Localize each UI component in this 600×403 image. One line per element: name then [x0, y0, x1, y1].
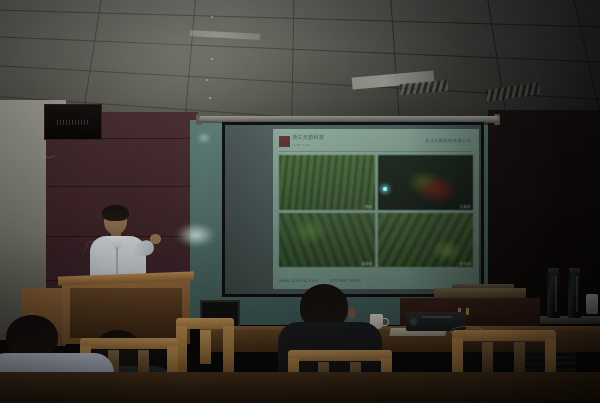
wall-speaker	[44, 104, 102, 140]
slide-footer-phone: 400-887-8683	[330, 278, 361, 283]
speaker-grille	[57, 120, 89, 125]
conference-room-photo: Sunview 浙江天韵科技 TIAN YUN 浙江天韵科技有限公司 樟树 红枫…	[0, 0, 600, 403]
projection-screen: 浙江天韵科技 TIAN YUN 浙江天韵科技有限公司 樟树 红枫林 香樟林	[222, 122, 484, 297]
slide-header-rule	[279, 151, 473, 152]
slide-photo-grid: 樟树 红枫林 香樟林 桂花树	[279, 155, 473, 267]
chair-top-rail	[288, 350, 392, 361]
thermos-flask-right[interactable]	[568, 272, 581, 318]
slide-photo: 香樟林	[279, 213, 375, 268]
projector-vent	[422, 316, 452, 318]
chair-back[interactable]	[176, 318, 234, 368]
screen-brand-label: Sunview	[232, 117, 245, 121]
front-table	[0, 372, 600, 403]
wall-glare-reflection	[196, 132, 212, 144]
photo-caption: 红枫林	[460, 204, 471, 209]
thermos-cap	[569, 268, 580, 274]
presenter-hair	[102, 205, 129, 221]
slide-photo: 樟树	[279, 155, 375, 210]
attendee-ear	[348, 308, 356, 319]
slide-footer-url: www.zjtyunkj.com	[279, 278, 318, 283]
projected-slide: 浙江天韵科技 TIAN YUN 浙江天韵科技有限公司 樟树 红枫林 香樟林	[273, 129, 479, 289]
projector-lens-icon	[409, 317, 418, 326]
slide-header-company: 浙江天韵科技有限公司	[425, 138, 471, 144]
company-logo-text: 浙江天韵科技	[292, 136, 324, 141]
company-logo-subtext: TIAN YUN	[292, 143, 310, 147]
slide-photo: 红枫林	[378, 155, 474, 210]
thermos-cap	[548, 268, 559, 274]
hanging-cord	[42, 140, 56, 158]
chair-top-rail	[452, 330, 556, 341]
slide-header: 浙江天韵科技 TIAN YUN 浙江天韵科技有限公司	[279, 135, 473, 150]
jar[interactable]	[586, 294, 598, 314]
slide-photo: 桂花树	[378, 213, 474, 268]
wall-glare-reflection	[175, 222, 217, 248]
presenter-hand	[150, 234, 161, 244]
thermos-highlight	[576, 276, 578, 312]
thermos-highlight	[555, 276, 557, 312]
thermos-flask-left[interactable]	[547, 272, 560, 318]
slide-footer: www.zjtyunkj.com 400-887-8683	[279, 278, 361, 283]
screen-surface: 浙江天韵科技 TIAN YUN 浙江天韵科技有限公司 樟树 红枫林 香樟林	[225, 125, 481, 294]
laser-pointer-dot	[383, 187, 387, 191]
photo-caption: 桂花树	[460, 261, 471, 266]
chair-slat	[200, 330, 211, 364]
company-logo-icon	[279, 136, 290, 147]
panel-seam	[46, 186, 198, 187]
cabinet-knob[interactable]	[466, 308, 469, 315]
photo-caption: 樟树	[365, 204, 372, 209]
photo-caption: 香樟林	[361, 261, 372, 266]
chair-stile	[223, 326, 234, 376]
